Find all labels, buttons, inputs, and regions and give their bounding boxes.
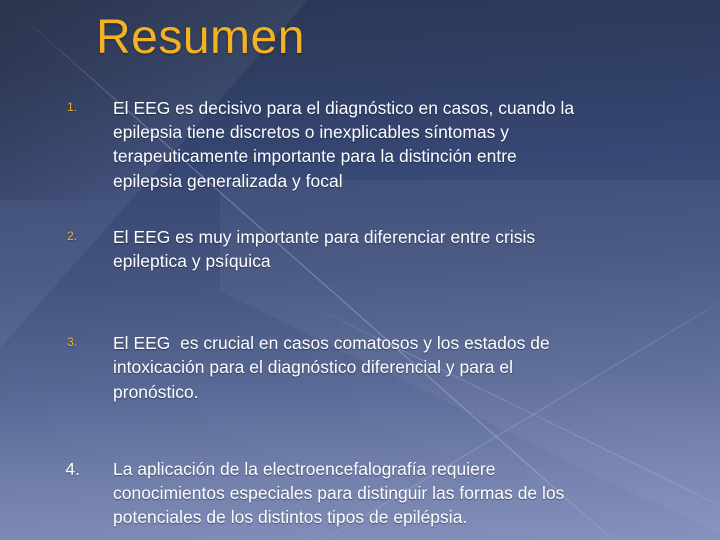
list-item-line: El EEG es muy importante para diferencia… bbox=[113, 225, 696, 249]
list-item-marker: 4. bbox=[0, 457, 95, 481]
list-spacer bbox=[0, 404, 720, 457]
list-item: 2. El EEG es muy importante para diferen… bbox=[0, 225, 720, 273]
list-spacer bbox=[0, 273, 720, 331]
list-item-line: terapeuticamente importante para la dist… bbox=[113, 144, 696, 168]
list-item-line: La aplicación de la electroencefalografí… bbox=[113, 457, 696, 481]
list-item: 4. La aplicación de la electroencefalogr… bbox=[0, 457, 720, 530]
slide-title: Resumen bbox=[96, 14, 305, 62]
list-item-line: potenciales de los distintos tipos de ep… bbox=[113, 505, 696, 529]
list-item-marker: 1. bbox=[0, 96, 95, 120]
list-item-line: El EEG es decisivo para el diagnóstico e… bbox=[113, 96, 696, 120]
list-item-line: pronóstico. bbox=[113, 380, 696, 404]
list-item-line: conocimientos especiales para distinguir… bbox=[113, 481, 696, 505]
list-item-marker: 2. bbox=[0, 225, 95, 249]
list-item-line: epilepsia generalizada y focal bbox=[113, 169, 696, 193]
list-item-line: epilepsia tiene discretos o inexplicable… bbox=[113, 120, 696, 144]
presentation-slide: Resumen 1. El EEG es decisivo para el di… bbox=[0, 0, 720, 540]
list-item-marker: 3. bbox=[0, 331, 95, 355]
list-item: 3. El EEG es crucial en casos comatosos … bbox=[0, 331, 720, 404]
list-item-line: El EEG es crucial en casos comatosos y l… bbox=[113, 331, 696, 355]
list-item-line: intoxicación para el diagnóstico diferen… bbox=[113, 355, 696, 379]
slide-body-list: 1. El EEG es decisivo para el diagnóstic… bbox=[0, 96, 720, 529]
list-item: 1. El EEG es decisivo para el diagnóstic… bbox=[0, 96, 720, 193]
list-spacer bbox=[0, 193, 720, 225]
list-item-line: epileptica y psíquica bbox=[113, 249, 696, 273]
